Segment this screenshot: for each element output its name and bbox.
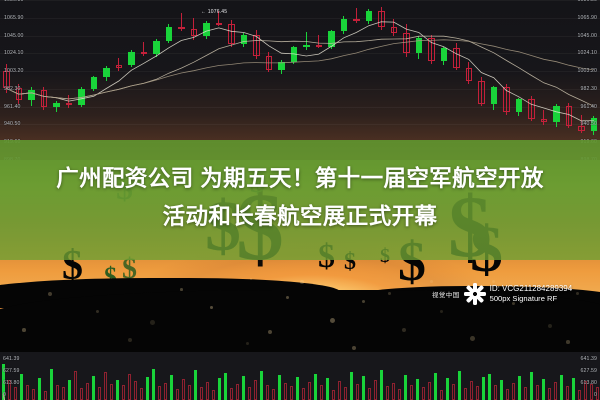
volume-axis-tick: 613.80 (581, 380, 597, 386)
bokeh-dot (22, 328, 26, 332)
watermark-id: ID: VCG211284289394 (490, 284, 573, 293)
volume-axis-tick: 0 (3, 392, 6, 398)
bokeh-dot (180, 288, 183, 291)
bokeh-dot (566, 340, 570, 344)
volume-moving-average (0, 352, 600, 400)
bokeh-dot (286, 296, 289, 299)
headline-line-1: 广州配资公司 为期五天！第十一届空军航空开放 (56, 166, 544, 191)
price-axis-tick: 1024.10 (578, 50, 597, 56)
volume-ma-line (3, 393, 597, 400)
price-axis-tick: 940.50 (581, 121, 597, 127)
price-axis-tick: 940.50 (4, 121, 20, 127)
price-chart: 1086.801065.901045.001024.101003.20982.3… (0, 0, 600, 160)
bokeh-dot (470, 336, 475, 341)
volume-axis-tick: 0 (594, 392, 597, 398)
price-axis-tick: 1045.00 (578, 33, 597, 39)
price-axis-tick: 961.40 (581, 104, 597, 110)
watermark: 视觉中国 ID: VCG211284289394 500px Signature… (432, 283, 572, 305)
price-axis-tick: 1065.90 (578, 15, 597, 21)
price-axis-tick: 1024.10 (4, 50, 23, 56)
price-annotation: ← 1076.45 (201, 9, 227, 15)
bokeh-dot (576, 292, 579, 295)
volume-axis-tick: 627.59 (3, 368, 19, 374)
headline-text: 广州配资公司 为期五天！第十一届空军航空开放 活动和长春航空展正式开幕 (0, 160, 600, 236)
volume-chart: 641.39627.59613.800 641.39627.59613.800 (0, 352, 600, 400)
bokeh-dot (150, 320, 155, 325)
bokeh-dot (48, 292, 52, 296)
price-axis-tick: 982.30 (581, 86, 597, 92)
watermark-text: ID: VCG211284289394 500px Signature RF (490, 284, 573, 305)
moving-average-lines (0, 0, 600, 160)
bokeh-dot (210, 306, 213, 309)
asterisk-burst-icon (464, 283, 486, 305)
bokeh-dot (388, 292, 391, 295)
bokeh-dot (548, 324, 552, 328)
ma-line (6, 22, 594, 121)
headline-line-2: 活动和长春航空展正式开幕 (0, 198, 600, 236)
price-axis-tick: 1045.00 (4, 33, 23, 39)
screenshot-root: 1086.801065.901045.001024.101003.20982.3… (0, 0, 600, 400)
bokeh-dot (362, 300, 365, 303)
price-axis-tick: 1086.80 (4, 0, 23, 3)
price-axis-tick: 961.40 (4, 104, 20, 110)
bokeh-dot (300, 280, 304, 284)
volume-axis-tick: 627.59 (581, 368, 597, 374)
watermark-license: 500px Signature RF (490, 294, 573, 305)
price-axis-tick: 1065.90 (4, 15, 23, 21)
bokeh-dot (352, 346, 356, 350)
price-axis-tick: 1086.80 (578, 0, 597, 3)
price-axis-tick: 1003.20 (578, 68, 597, 74)
price-axis-tick: 982.30 (4, 86, 20, 92)
volume-axis-tick: 641.39 (581, 356, 597, 362)
price-axis-tick: 1003.20 (4, 68, 23, 74)
watermark-brand-cn: 视觉中国 (432, 289, 460, 299)
bokeh-dot (268, 330, 272, 334)
volume-axis-tick: 641.39 (3, 356, 19, 362)
volume-axis-tick: 613.80 (3, 380, 19, 386)
